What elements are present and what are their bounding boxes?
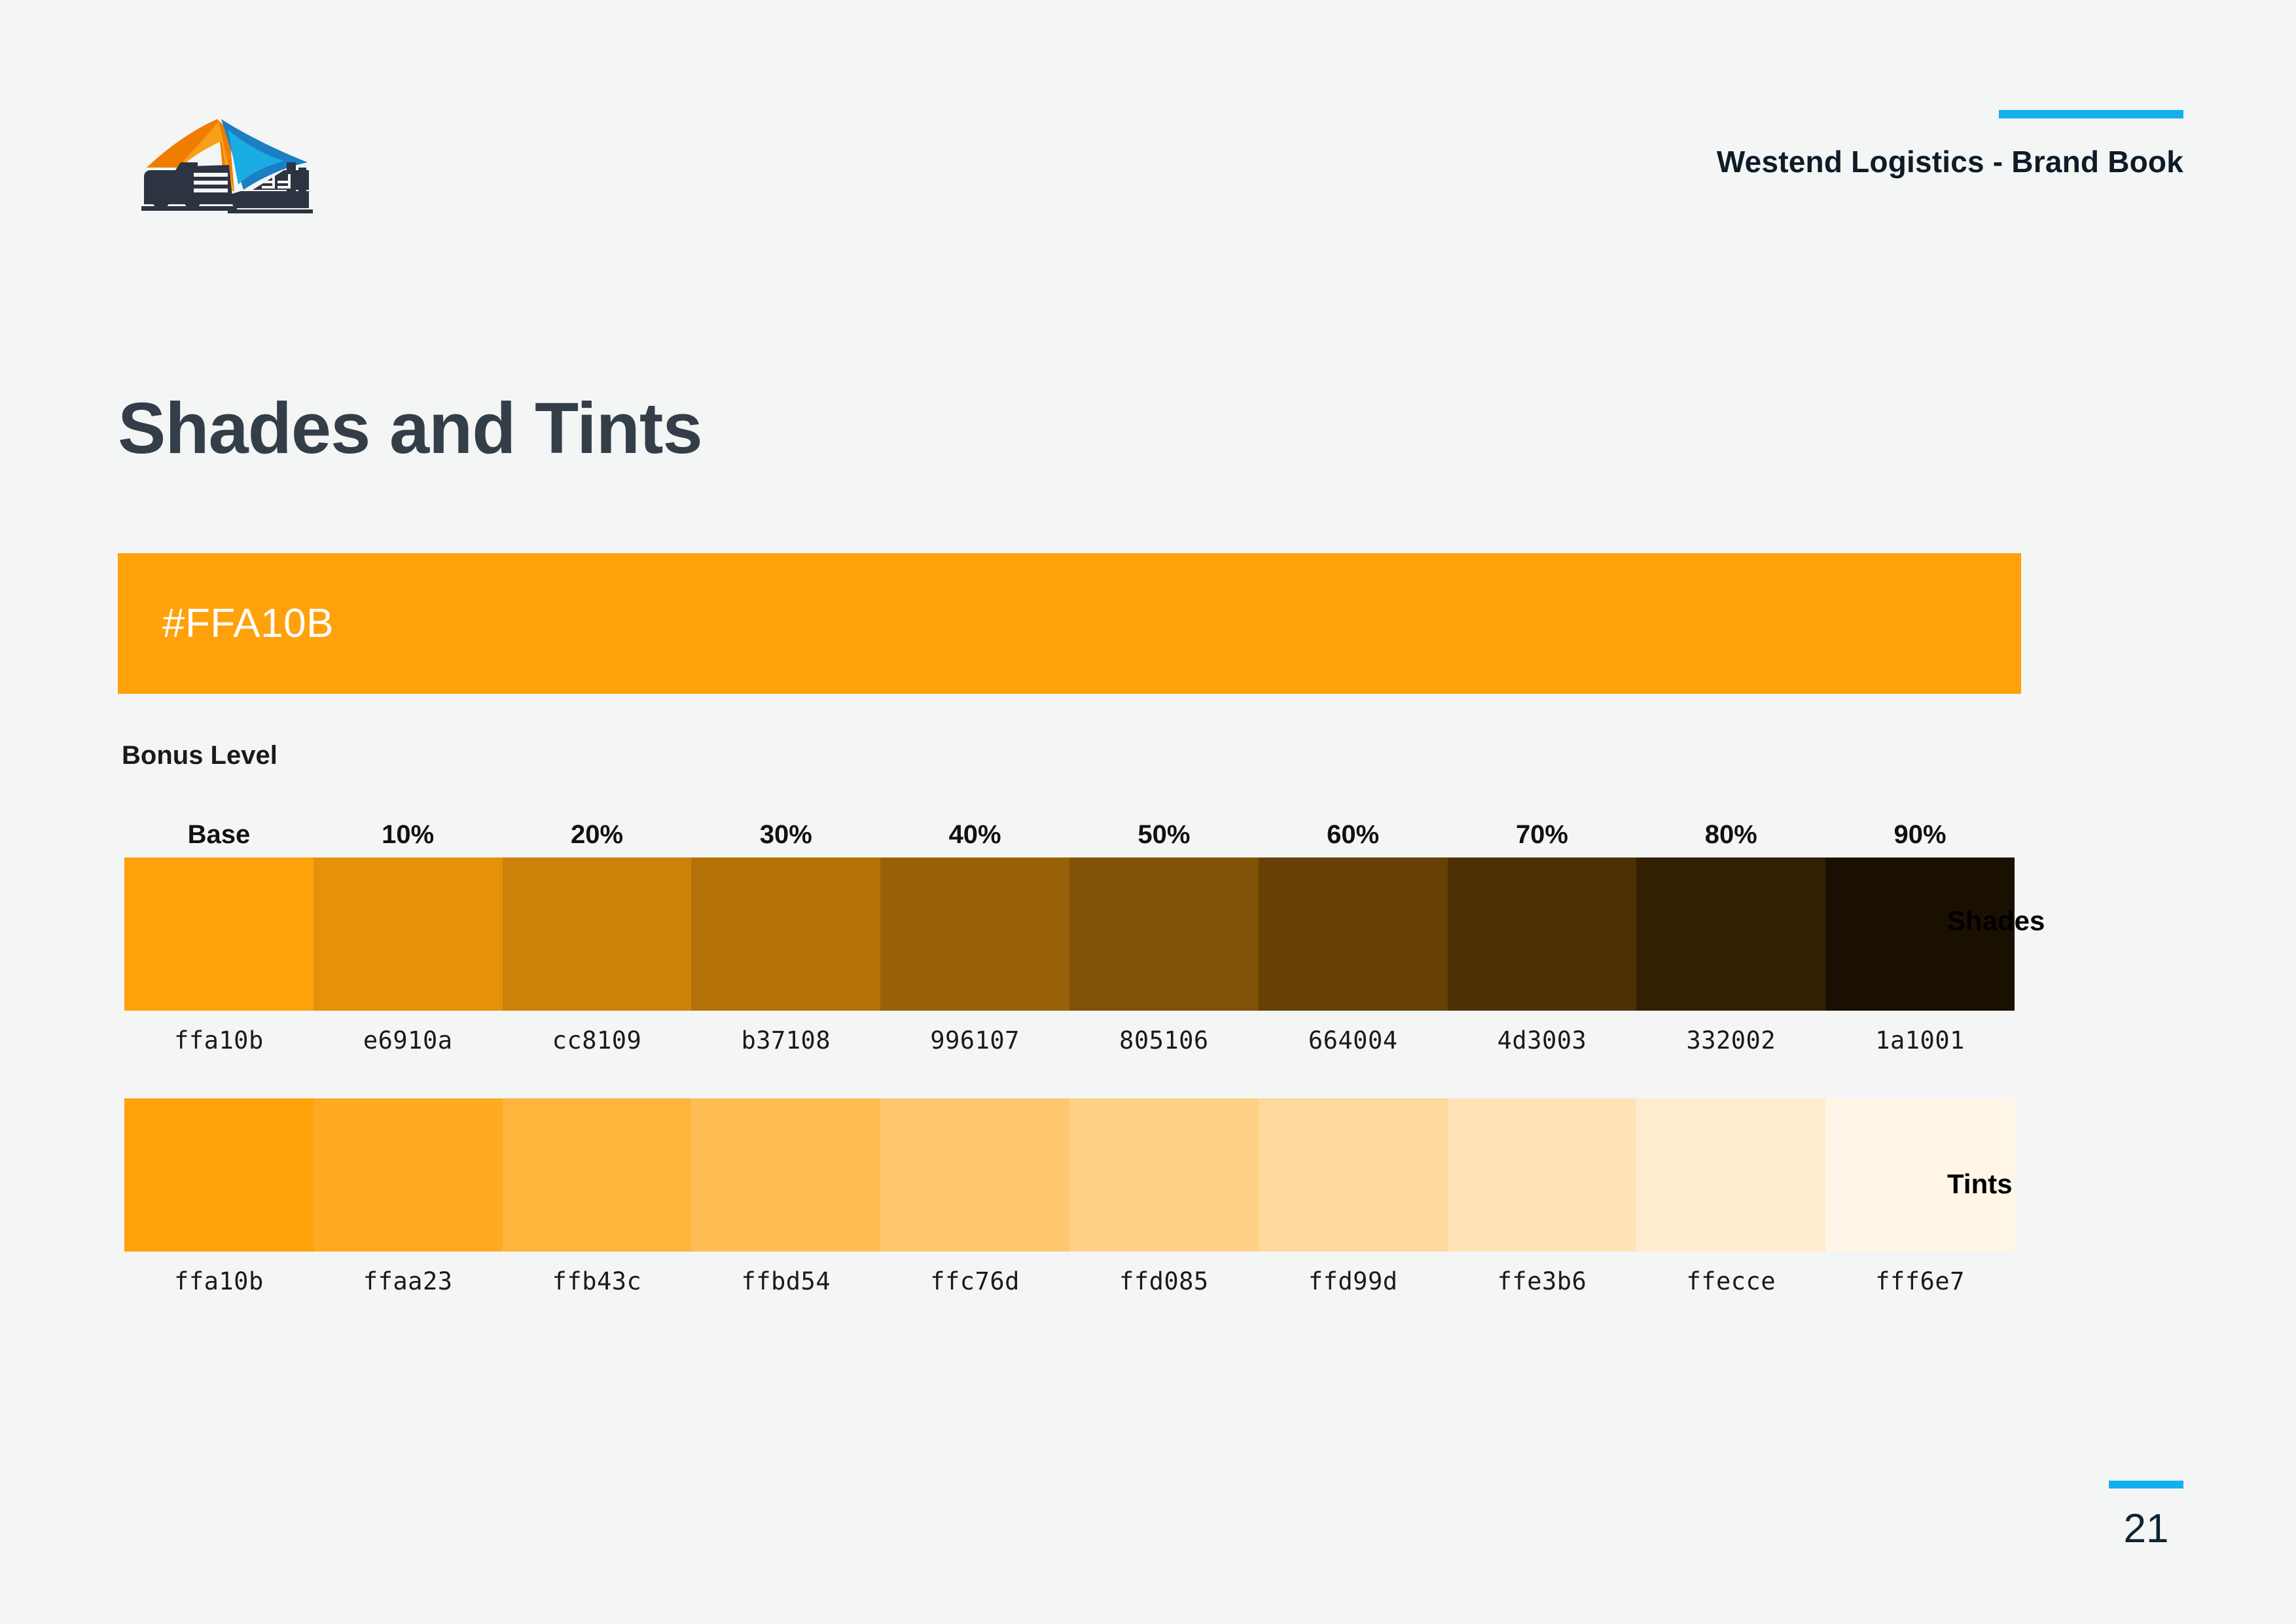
- tint-hex-label: ffa10b: [124, 1252, 314, 1312]
- tint-swatch[interactable]: [124, 1098, 314, 1252]
- shade-hex-label: 996107: [880, 1011, 1069, 1071]
- tint-hex-label: ffbd54: [691, 1252, 880, 1312]
- tint-swatch[interactable]: [314, 1098, 503, 1252]
- tints-row-label: Tints: [1947, 1168, 2013, 1200]
- shade-hex-label: 332002: [1636, 1011, 1825, 1071]
- shade-hex-label: e6910a: [314, 1011, 503, 1071]
- palette-column-header: 20%: [503, 812, 692, 857]
- header-title: Westend Logistics - Brand Book: [1717, 144, 2183, 179]
- shade-swatch[interactable]: [1259, 857, 1448, 1011]
- tint-hex-label: ffaa23: [314, 1252, 503, 1312]
- page-number: 21: [2109, 1506, 2183, 1552]
- palette-column-header: 40%: [880, 812, 1069, 857]
- shade-swatch[interactable]: [1448, 857, 1637, 1011]
- shade-swatch[interactable]: [314, 857, 503, 1011]
- tints-swatch-row: [124, 1098, 2015, 1252]
- palette-column-headers: Base10%20%30%40%50%60%70%80%90%: [124, 812, 2015, 857]
- footer-accent-bar: [2109, 1481, 2183, 1489]
- tint-hex-label: ffd085: [1069, 1252, 1259, 1312]
- tint-swatch[interactable]: [1448, 1098, 1637, 1252]
- shade-hex-label: 805106: [1069, 1011, 1259, 1071]
- palette-column-header: 90%: [1825, 812, 2015, 857]
- tint-swatch[interactable]: [880, 1098, 1069, 1252]
- palette-column-header: 50%: [1069, 812, 1259, 857]
- primary-color-hex-label: #FFA10B: [162, 600, 334, 647]
- bonus-level-label: Bonus Level: [122, 741, 278, 770]
- shade-hex-label: b37108: [691, 1011, 880, 1071]
- shades-hex-labels: ffa10be6910acc8109b371089961078051066640…: [124, 1011, 2015, 1071]
- tint-swatch[interactable]: [1636, 1098, 1825, 1252]
- shade-swatch[interactable]: [1069, 857, 1259, 1011]
- westend-logistics-logo: [113, 105, 335, 229]
- tint-hex-label: ffe3b6: [1448, 1252, 1637, 1312]
- shade-swatch[interactable]: [124, 857, 314, 1011]
- shade-hex-label: cc8109: [503, 1011, 692, 1071]
- palette-column-header: 30%: [691, 812, 880, 857]
- shade-swatch[interactable]: [503, 857, 692, 1011]
- palette-column-header: 80%: [1636, 812, 1825, 857]
- palette-column-header: Base: [124, 812, 314, 857]
- tint-hex-label: ffd99d: [1259, 1252, 1448, 1312]
- palette-column-header: 60%: [1259, 812, 1448, 857]
- shade-hex-label: 664004: [1259, 1011, 1448, 1071]
- palette-column-header: 70%: [1448, 812, 1637, 857]
- page-header: Westend Logistics - Brand Book: [0, 0, 2296, 275]
- shade-hex-label: ffa10b: [124, 1011, 314, 1071]
- tint-swatch[interactable]: [691, 1098, 880, 1252]
- header-accent-bar: [1999, 110, 2183, 118]
- page-title: Shades and Tints: [118, 393, 702, 465]
- tint-swatch[interactable]: [503, 1098, 692, 1252]
- primary-color-banner: #FFA10B: [118, 553, 2021, 694]
- shade-hex-label: 1a1001: [1825, 1011, 2015, 1071]
- shades-row-label: Shades: [1947, 905, 2045, 937]
- tints-hex-labels: ffa10bffaa23ffb43cffbd54ffc76dffd085ffd9…: [124, 1252, 2015, 1312]
- tint-swatch[interactable]: [1259, 1098, 1448, 1252]
- tint-hex-label: ffc76d: [880, 1252, 1069, 1312]
- shades-swatch-row: [124, 857, 2015, 1011]
- shade-swatch[interactable]: [691, 857, 880, 1011]
- tint-hex-label: fff6e7: [1825, 1252, 2015, 1312]
- shade-hex-label: 4d3003: [1448, 1011, 1637, 1071]
- tint-swatch[interactable]: [1069, 1098, 1259, 1252]
- palette-grid: Base10%20%30%40%50%60%70%80%90% ffa10be6…: [124, 812, 2015, 1312]
- palette-column-header: 10%: [314, 812, 503, 857]
- shade-swatch[interactable]: [1636, 857, 1825, 1011]
- tint-hex-label: ffecce: [1636, 1252, 1825, 1312]
- shade-swatch[interactable]: [880, 857, 1069, 1011]
- row-spacer: [124, 1071, 2015, 1098]
- tint-hex-label: ffb43c: [503, 1252, 692, 1312]
